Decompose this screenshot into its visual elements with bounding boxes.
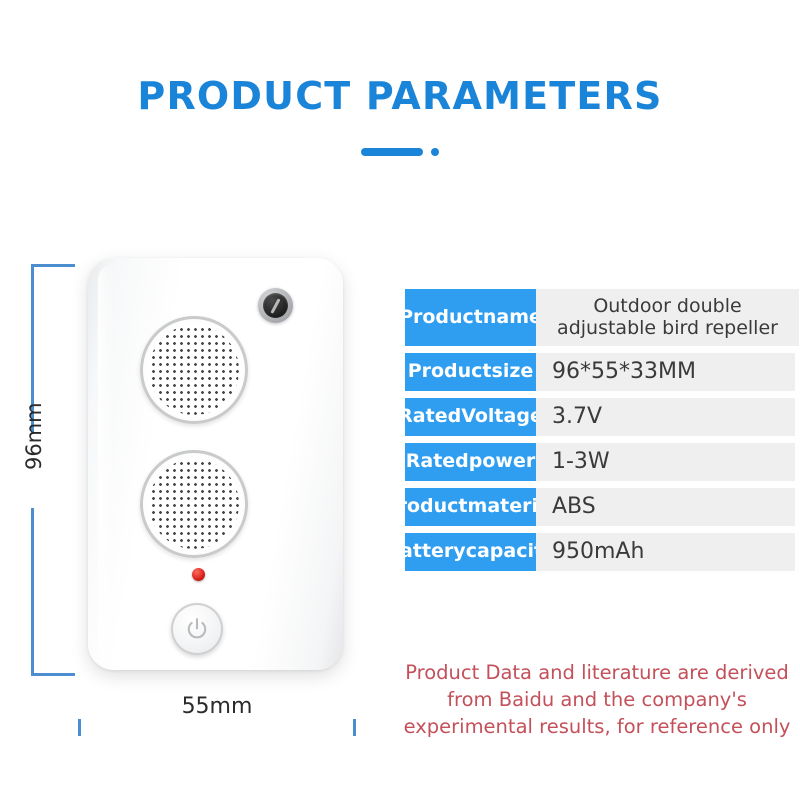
product-parameters-page: PRODUCT PARAMETERS 96mm 55mm bbox=[0, 0, 800, 800]
spec-label-line2: name bbox=[483, 307, 542, 328]
spec-value: 3.7V bbox=[536, 398, 795, 436]
page-title: PRODUCT PARAMETERS bbox=[0, 74, 800, 118]
ultrasonic-speaker-bottom-icon bbox=[140, 450, 248, 558]
power-button-icon bbox=[171, 603, 223, 655]
spec-value: 96*55*33MM bbox=[536, 353, 795, 391]
spec-label: Rated Voltage bbox=[405, 398, 536, 436]
disclaimer-text: Product Data and literature are derived … bbox=[398, 660, 796, 741]
table-row: Rated power 1-3W bbox=[405, 443, 795, 481]
spec-label: Product name bbox=[405, 289, 536, 346]
spec-label-line1: Product bbox=[384, 496, 468, 517]
spec-label: Rated power bbox=[405, 443, 536, 481]
spec-label-line1: Product bbox=[399, 307, 483, 328]
table-row: Product material ABS bbox=[405, 488, 795, 526]
spec-label-line1: Battery bbox=[386, 541, 466, 562]
spec-label-line2: power bbox=[469, 451, 535, 472]
divider-dot bbox=[431, 148, 439, 156]
table-row: Product size 96*55*33MM bbox=[405, 353, 795, 391]
spec-value: 1-3W bbox=[536, 443, 795, 481]
product-photo bbox=[88, 258, 343, 670]
spec-value: Outdoor double adjustable bird repeller bbox=[536, 289, 799, 346]
spec-label-line1: Rated bbox=[398, 406, 461, 427]
spec-label-line2: Voltage bbox=[461, 406, 543, 427]
ultrasonic-speaker-top-icon bbox=[140, 316, 248, 424]
specification-table: Product name Outdoor double adjustable b… bbox=[405, 289, 795, 578]
spec-label: Battery capacity bbox=[405, 533, 536, 571]
spec-label-line2: size bbox=[492, 361, 534, 382]
adjustment-knob-icon bbox=[252, 282, 299, 329]
spec-label: Product material bbox=[405, 488, 536, 526]
status-led-icon bbox=[192, 568, 205, 581]
spec-value: ABS bbox=[536, 488, 795, 526]
table-row: Rated Voltage 3.7V bbox=[405, 398, 795, 436]
height-dimension-line-lower bbox=[31, 508, 34, 676]
height-dimension-label: 96mm bbox=[22, 430, 46, 470]
table-row: Product name Outdoor double adjustable b… bbox=[405, 289, 795, 346]
width-dimension-label: 55mm bbox=[78, 694, 356, 719]
height-dimension-cap-bottom bbox=[31, 673, 75, 676]
speaker-perforation-pattern bbox=[149, 459, 239, 549]
speaker-perforation-pattern bbox=[149, 325, 239, 415]
height-dimension-cap-top bbox=[31, 264, 75, 267]
spec-value: 950mAh bbox=[536, 533, 795, 571]
title-divider bbox=[0, 148, 800, 156]
spec-label: Product size bbox=[405, 353, 536, 391]
table-row: Battery capacity 950mAh bbox=[405, 533, 795, 571]
spec-label-line1: Product bbox=[408, 361, 492, 382]
spec-label-line1: Rated bbox=[406, 451, 469, 472]
divider-bar bbox=[361, 148, 423, 156]
